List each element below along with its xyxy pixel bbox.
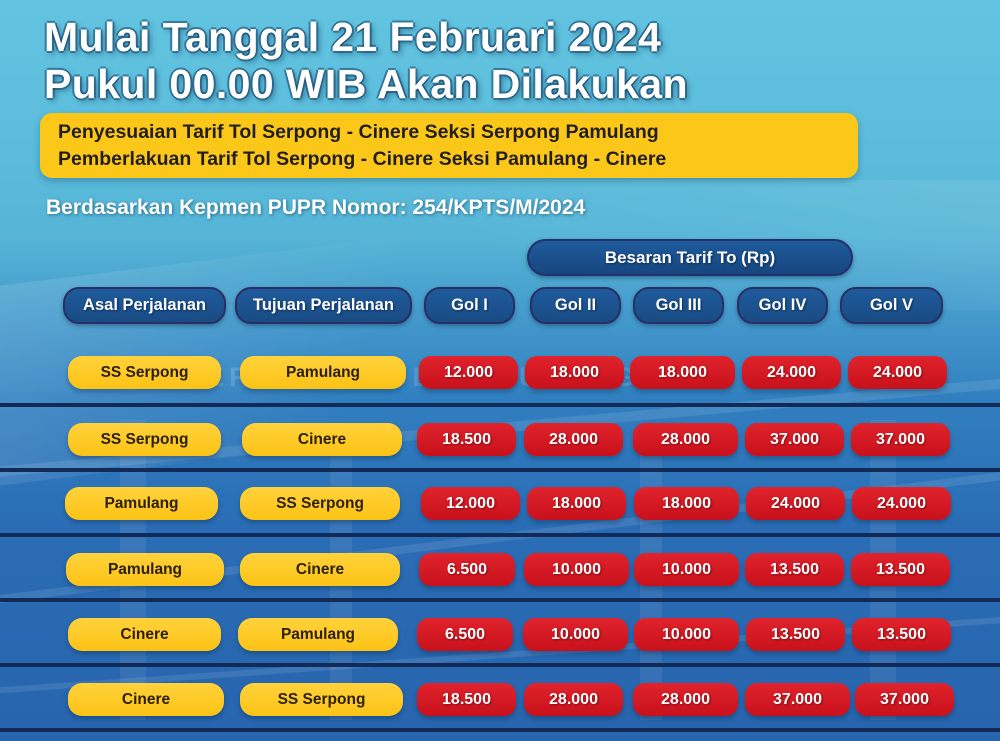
cell-gol-2: 10.000 — [524, 553, 629, 586]
cell-label: Cinere — [240, 553, 400, 586]
cell-label: 12.000 — [421, 487, 520, 520]
cell-label: 6.500 — [417, 618, 513, 651]
regulation-reference: Berdasarkan Kepmen PUPR Nomor: 254/KPTS/… — [46, 196, 585, 220]
page-title: Mulai Tanggal 21 Februari 2024 Pukul 00.… — [44, 14, 944, 108]
column-header-asal-perjalanan: Asal Perjalanan — [63, 287, 226, 324]
cell-gol-4: 37.000 — [745, 683, 850, 716]
cell-label: 12.000 — [419, 356, 518, 389]
cell-label: 18.000 — [525, 356, 624, 389]
cell-gol-3: 10.000 — [634, 553, 739, 586]
cell-label: 37.000 — [851, 423, 950, 456]
column-header-label: Gol V — [840, 287, 943, 324]
column-header-gol-4: Gol IV — [737, 287, 828, 324]
cell-label: 18.000 — [630, 356, 735, 389]
cell-gol-5: 13.500 — [852, 618, 951, 651]
cell-label: 13.500 — [852, 618, 951, 651]
cell-gol-3: 18.000 — [634, 487, 739, 520]
column-header-label: Gol III — [633, 287, 724, 324]
cell-label: 10.000 — [523, 618, 628, 651]
announcement-line-2: Pemberlakuan Tarif Tol Serpong - Cinere … — [58, 146, 858, 173]
cell-gol-1: 12.000 — [421, 487, 520, 520]
table-row: Pamulang SS Serpong 12.000 18.000 18.000… — [0, 472, 1000, 537]
cell-gol-2: 18.000 — [527, 487, 626, 520]
cell-label: Cinere — [68, 618, 221, 651]
cell-label: Pamulang — [238, 618, 398, 651]
cell-gol-5: 37.000 — [851, 423, 950, 456]
column-header-gol-3: Gol III — [633, 287, 724, 324]
cell-gol-5: 37.000 — [855, 683, 954, 716]
cell-gol-1: 12.000 — [419, 356, 518, 389]
announcement-banner: Penyesuaian Tarif Tol Serpong - Cinere S… — [40, 113, 858, 178]
tariff-group-header-label: Besaran Tarif To (Rp) — [605, 248, 775, 268]
cell-gol-2: 28.000 — [524, 683, 623, 716]
cell-label: 13.500 — [851, 553, 950, 586]
toll-tariff-poster: GERBANG TOL PAMULANG Mulai Tanggal 21 Fe… — [0, 0, 1000, 741]
column-header-label: Gol IV — [737, 287, 828, 324]
cell-gol-4: 13.500 — [746, 618, 845, 651]
cell-label: 24.000 — [746, 487, 845, 520]
cell-label: SS Serpong — [240, 683, 403, 716]
cell-label: 37.000 — [855, 683, 954, 716]
table-row: Cinere SS Serpong 18.500 28.000 28.000 3… — [0, 667, 1000, 732]
cell-gol-1: 6.500 — [417, 618, 513, 651]
cell-label: Pamulang — [240, 356, 406, 389]
cell-origin: Pamulang — [65, 487, 218, 520]
column-header-label: Tujuan Perjalanan — [235, 287, 412, 324]
tariff-table: Asal Perjalanan Tujuan Perjalanan Gol I … — [0, 284, 1000, 732]
cell-gol-5: 24.000 — [852, 487, 951, 520]
cell-destination: Cinere — [240, 553, 400, 586]
cell-label: 10.000 — [524, 553, 629, 586]
cell-origin: Cinere — [68, 683, 224, 716]
cell-destination: Pamulang — [240, 356, 406, 389]
table-row: Pamulang Cinere 6.500 10.000 10.000 13.5… — [0, 537, 1000, 602]
cell-label: 18.500 — [417, 423, 516, 456]
page-title-line-2: Pukul 00.00 WIB Akan Dilakukan — [44, 61, 944, 108]
cell-gol-1: 18.500 — [417, 683, 516, 716]
column-header-tujuan-perjalanan: Tujuan Perjalanan — [235, 287, 412, 324]
cell-label: Pamulang — [65, 487, 218, 520]
tariff-group-header: Besaran Tarif To (Rp) — [527, 239, 853, 276]
cell-destination: SS Serpong — [240, 487, 400, 520]
cell-label: 28.000 — [633, 683, 738, 716]
cell-label: Cinere — [68, 683, 224, 716]
cell-gol-1: 18.500 — [417, 423, 516, 456]
cell-gol-4: 24.000 — [742, 356, 841, 389]
cell-gol-4: 13.500 — [745, 553, 844, 586]
cell-label: Pamulang — [66, 553, 224, 586]
column-header-gol-2: Gol II — [530, 287, 621, 324]
cell-destination: SS Serpong — [240, 683, 403, 716]
cell-label: SS Serpong — [240, 487, 400, 520]
cell-label: 37.000 — [745, 423, 844, 456]
column-header-gol-5: Gol V — [840, 287, 943, 324]
column-header-label: Gol II — [530, 287, 621, 324]
cell-gol-1: 6.500 — [419, 553, 515, 586]
cell-gol-2: 10.000 — [523, 618, 628, 651]
table-row: SS Serpong Pamulang 12.000 18.000 18.000… — [0, 342, 1000, 407]
cell-label: 13.500 — [746, 618, 845, 651]
cell-gol-5: 13.500 — [851, 553, 950, 586]
table-header-row: Asal Perjalanan Tujuan Perjalanan Gol I … — [0, 284, 1000, 342]
cell-label: SS Serpong — [68, 423, 221, 456]
cell-gol-2: 18.000 — [525, 356, 624, 389]
cell-gol-4: 37.000 — [745, 423, 844, 456]
cell-label: 28.000 — [524, 683, 623, 716]
table-row: Cinere Pamulang 6.500 10.000 10.000 13.5… — [0, 602, 1000, 667]
cell-destination: Cinere — [242, 423, 402, 456]
cell-label: 10.000 — [634, 618, 739, 651]
column-header-label: Asal Perjalanan — [63, 287, 226, 324]
cell-origin: SS Serpong — [68, 423, 221, 456]
cell-label: 6.500 — [419, 553, 515, 586]
cell-gol-5: 24.000 — [848, 356, 947, 389]
cell-destination: Pamulang — [238, 618, 398, 651]
cell-label: 37.000 — [745, 683, 850, 716]
cell-origin: Pamulang — [66, 553, 224, 586]
cell-origin: Cinere — [68, 618, 221, 651]
cell-gol-3: 10.000 — [634, 618, 739, 651]
cell-label: 24.000 — [742, 356, 841, 389]
cell-gol-2: 28.000 — [524, 423, 623, 456]
cell-label: 24.000 — [848, 356, 947, 389]
cell-label: 28.000 — [633, 423, 738, 456]
cell-gol-4: 24.000 — [746, 487, 845, 520]
cell-label: 18.000 — [634, 487, 739, 520]
cell-gol-3: 18.000 — [630, 356, 735, 389]
cell-gol-3: 28.000 — [633, 683, 738, 716]
cell-origin: SS Serpong — [68, 356, 221, 389]
page-title-line-1: Mulai Tanggal 21 Februari 2024 — [44, 14, 944, 61]
column-header-label: Gol I — [424, 287, 515, 324]
announcement-line-1: Penyesuaian Tarif Tol Serpong - Cinere S… — [58, 119, 858, 146]
cell-label: 18.500 — [417, 683, 516, 716]
cell-label: 10.000 — [634, 553, 739, 586]
cell-gol-3: 28.000 — [633, 423, 738, 456]
cell-label: 28.000 — [524, 423, 623, 456]
cell-label: 13.500 — [745, 553, 844, 586]
cell-label: SS Serpong — [68, 356, 221, 389]
column-header-gol-1: Gol I — [424, 287, 515, 324]
cell-label: Cinere — [242, 423, 402, 456]
cell-label: 24.000 — [852, 487, 951, 520]
table-row: SS Serpong Cinere 18.500 28.000 28.000 3… — [0, 407, 1000, 472]
cell-label: 18.000 — [527, 487, 626, 520]
